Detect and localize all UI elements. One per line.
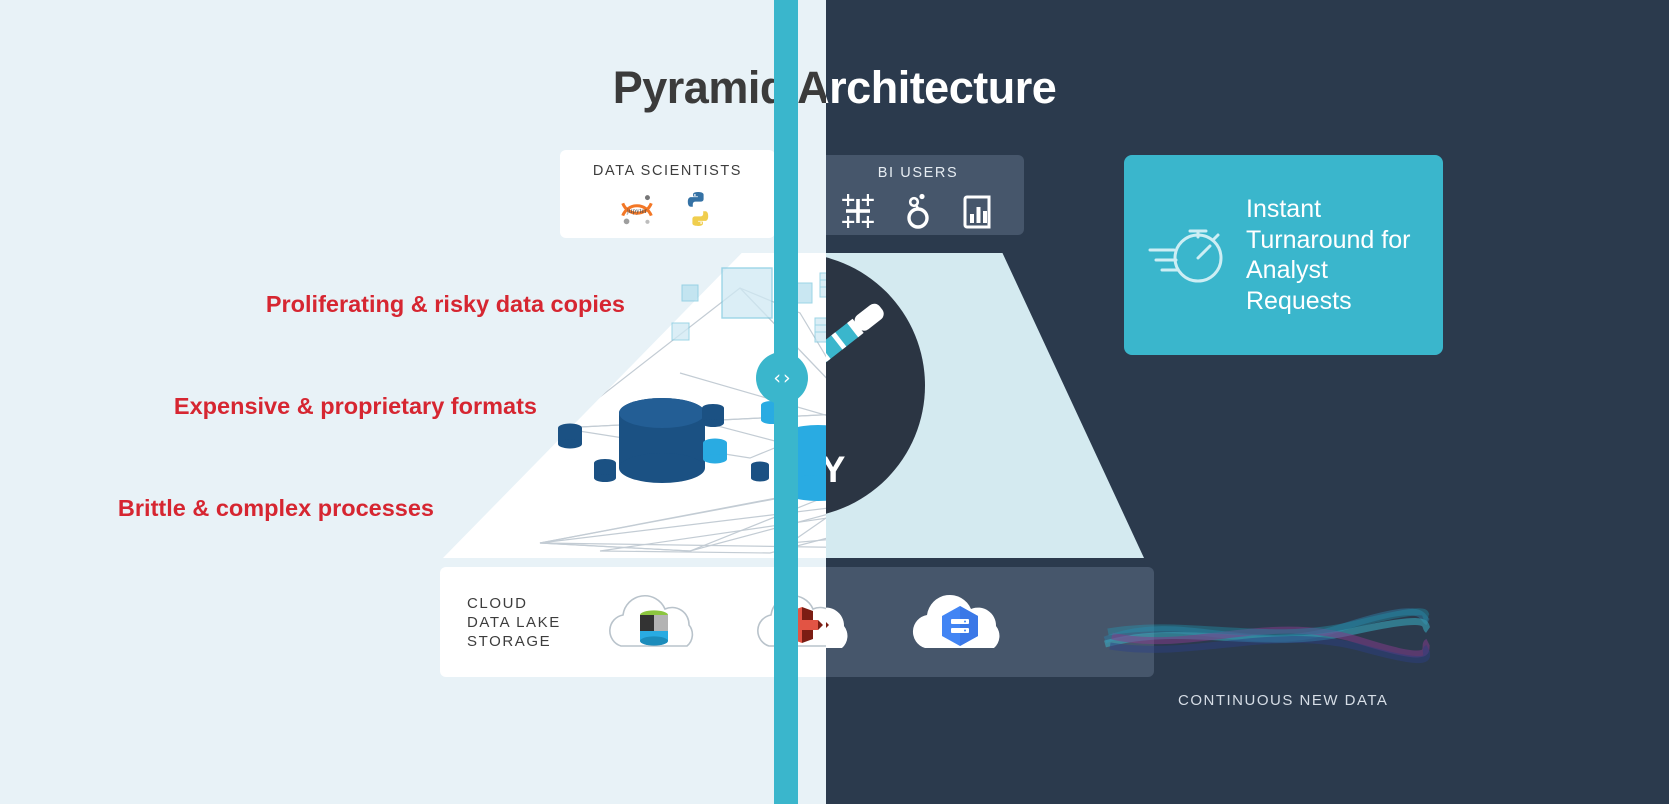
benefit-line-2: Turnaround for (1246, 225, 1410, 256)
persona-label-bi-users: BI USERS (878, 165, 959, 181)
benefit-card-text: Instant Turnaround for Analyst Requests (1246, 194, 1410, 316)
data-wave-graphic (1100, 588, 1430, 678)
comparison-slider-stage[interactable]: Pyramid Architecture (0, 0, 1669, 804)
continuous-new-data-label: CONTINUOUS NEW DATA (1178, 692, 1388, 709)
persona-label-data-scientists: DATA SCIENTISTS (593, 163, 742, 179)
pain-point-1: Proliferating & risky data copies (266, 291, 625, 318)
google-cloud-storage-icon[interactable] (899, 582, 1023, 662)
pain-point-3: Brittle & complex processes (118, 495, 434, 522)
looker-icon[interactable] (900, 191, 936, 231)
storage-label-line-2: DATA LAKE (467, 613, 587, 632)
comparison-slider-handle[interactable]: ‹ › (756, 352, 808, 404)
persona-card-bi-users[interactable]: BI USERS (812, 155, 1024, 235)
power-bi-icon[interactable] (958, 191, 998, 231)
cloud-storage-label-before: CLOUD DATA LAKE STORAGE (467, 594, 587, 651)
persona-tool-icons-data-scientists: jupyter (618, 189, 718, 229)
chevron-right-icon[interactable]: › (783, 369, 791, 388)
stopwatch-icon (1144, 210, 1232, 300)
benefit-card-instant-turnaround[interactable]: Instant Turnaround for Analyst Requests (1124, 155, 1443, 355)
benefit-line-1: Instant (1246, 194, 1410, 225)
pain-point-2: Expensive & proprietary formats (174, 393, 537, 420)
jupyter-icon[interactable]: jupyter (618, 190, 656, 228)
azure-data-lake-icon[interactable] (595, 584, 715, 660)
svg-text:jupyter: jupyter (625, 207, 647, 215)
storage-label-line-1: CLOUD (467, 594, 587, 613)
persona-tool-icons-bi-users (838, 191, 998, 231)
chevron-left-icon[interactable]: ‹ (773, 369, 781, 388)
python-icon[interactable] (678, 189, 718, 229)
storage-label-line-3: STORAGE (467, 632, 587, 651)
benefit-line-3: Analyst (1246, 255, 1410, 286)
tableau-icon[interactable] (838, 191, 878, 231)
cloud-provider-icons-before (595, 584, 863, 660)
benefit-line-4: Requests (1246, 286, 1410, 317)
persona-card-data-scientists[interactable]: DATA SCIENTISTS jupyter (560, 150, 775, 238)
